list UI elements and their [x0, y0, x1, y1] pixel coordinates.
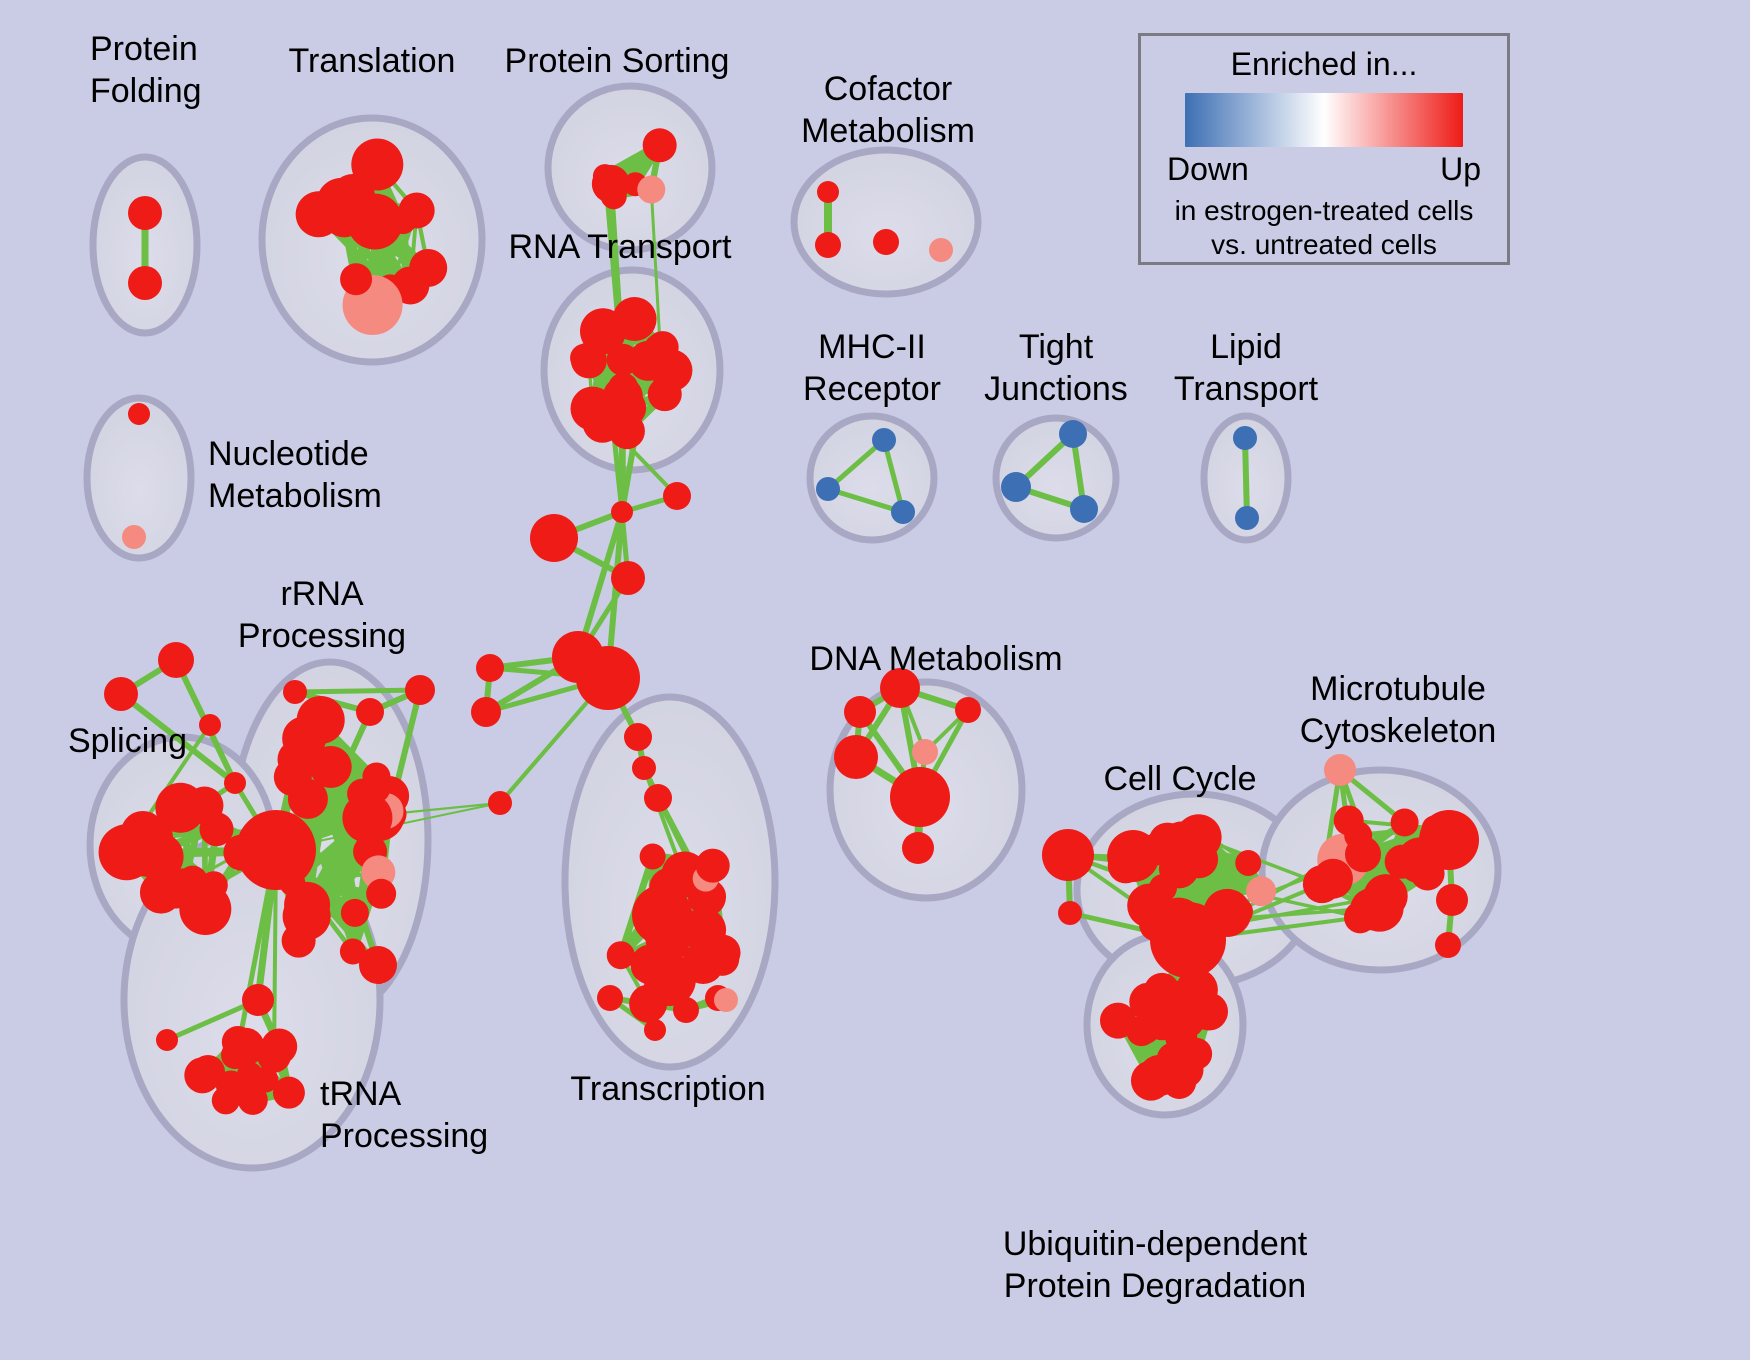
network-node[interactable] [890, 767, 950, 827]
network-node[interactable] [644, 784, 672, 812]
network-node[interactable] [128, 196, 162, 230]
network-node[interactable] [1108, 847, 1144, 883]
network-node[interactable] [488, 791, 512, 815]
cluster-label-transcription: Transcription [570, 1070, 765, 1108]
network-node[interactable] [912, 739, 938, 765]
network-node[interactable] [340, 263, 372, 295]
network-node[interactable] [1129, 983, 1167, 1021]
legend-title: Enriched in... [1163, 46, 1485, 83]
network-node[interactable] [399, 192, 435, 228]
network-node[interactable] [284, 882, 330, 928]
network-node[interactable] [929, 238, 953, 262]
network-node[interactable] [1174, 989, 1208, 1023]
network-edge [1245, 438, 1247, 518]
network-node[interactable] [530, 514, 578, 562]
network-node[interactable] [405, 675, 435, 705]
network-node[interactable] [242, 984, 274, 1016]
network-node[interactable] [1233, 426, 1257, 450]
network-edge [295, 690, 420, 692]
network-node[interactable] [184, 1057, 220, 1093]
network-node[interactable] [663, 482, 691, 510]
network-node[interactable] [104, 677, 138, 711]
legend-panel: Enriched in... Down Up in estrogen-treat… [1138, 33, 1510, 265]
network-node[interactable] [156, 1029, 178, 1051]
legend-up-label: Up [1440, 151, 1481, 188]
cluster-ellipse-cofactor-metab [794, 150, 978, 294]
network-node[interactable] [834, 735, 878, 779]
network-node[interactable] [1140, 1055, 1178, 1093]
network-node[interactable] [873, 229, 899, 255]
network-node[interactable] [366, 879, 396, 909]
network-node[interactable] [224, 772, 246, 794]
network-node[interactable] [1149, 823, 1187, 861]
network-node[interactable] [632, 756, 656, 780]
network-node[interactable] [128, 403, 150, 425]
network-node[interactable] [1058, 901, 1082, 925]
network-node[interactable] [1070, 495, 1098, 523]
network-node[interactable] [624, 723, 652, 751]
figure-canvas: ProteinFoldingTranslationProtein Sorting… [0, 0, 1750, 1360]
network-node[interactable] [342, 793, 392, 843]
cluster-label-translation: Translation [289, 42, 456, 80]
cluster-label-protein-sorting: Protein Sorting [505, 42, 730, 80]
network-node[interactable] [1436, 884, 1468, 916]
network-node[interactable] [122, 525, 146, 549]
network-node[interactable] [323, 195, 365, 237]
network-node[interactable] [872, 428, 896, 452]
network-node[interactable] [632, 885, 692, 945]
cluster-label-rna-transport: RNA Transport [509, 228, 733, 266]
network-node[interactable] [1419, 810, 1479, 870]
network-node[interactable] [356, 698, 384, 726]
network-node[interactable] [955, 697, 981, 723]
legend-gradient-bar [1185, 93, 1463, 147]
network-node[interactable] [1385, 845, 1419, 879]
network-node[interactable] [1391, 808, 1419, 836]
network-node[interactable] [570, 344, 598, 372]
network-node[interactable] [1350, 888, 1392, 930]
network-node[interactable] [351, 139, 403, 191]
network-node[interactable] [582, 403, 622, 443]
network-node[interactable] [362, 775, 390, 803]
network-node[interactable] [844, 696, 876, 728]
network-node[interactable] [316, 717, 340, 741]
network-node[interactable] [576, 646, 640, 710]
network-node[interactable] [1235, 506, 1259, 530]
network-node[interactable] [815, 232, 841, 258]
network-node[interactable] [1001, 472, 1031, 502]
network-node[interactable] [341, 899, 369, 927]
network-node[interactable] [128, 266, 162, 300]
network-node[interactable] [223, 835, 259, 871]
network-node[interactable] [1435, 932, 1461, 958]
legend-down-label: Down [1167, 151, 1249, 188]
legend-subtitle-line2: vs. untreated cells [1163, 228, 1485, 262]
network-node[interactable] [902, 832, 934, 864]
network-node[interactable] [593, 164, 617, 188]
network-node[interactable] [629, 985, 667, 1023]
network-node[interactable] [714, 988, 738, 1012]
network-node[interactable] [643, 128, 677, 162]
network-node[interactable] [630, 945, 670, 985]
network-node[interactable] [283, 680, 307, 704]
network-node[interactable] [644, 1019, 666, 1041]
network-node[interactable] [199, 714, 221, 736]
network-node[interactable] [1042, 829, 1094, 881]
network-node[interactable] [185, 787, 223, 825]
network-node[interactable] [1324, 754, 1356, 786]
network-node[interactable] [637, 176, 665, 204]
cluster-label-dna-metabolism: DNA Metabolism [809, 640, 1062, 678]
network-node[interactable] [673, 997, 699, 1023]
network-node[interactable] [647, 331, 679, 363]
network-node[interactable] [359, 946, 397, 984]
network-node[interactable] [158, 642, 194, 678]
network-node[interactable] [696, 849, 730, 883]
network-node[interactable] [1184, 816, 1212, 844]
network-node[interactable] [640, 843, 666, 869]
network-node[interactable] [471, 697, 501, 727]
network-node[interactable] [613, 297, 657, 341]
network-node[interactable] [817, 181, 839, 203]
network-node[interactable] [816, 477, 840, 501]
network-node[interactable] [1150, 902, 1226, 978]
network-node[interactable] [1344, 821, 1372, 849]
legend-subtitle-line1: in estrogen-treated cells [1163, 194, 1485, 228]
cluster-label-splicing: Splicing [68, 722, 187, 760]
network-node[interactable] [597, 985, 623, 1011]
network-node[interactable] [1246, 876, 1276, 906]
network-node[interactable] [1313, 859, 1353, 899]
network-node[interactable] [136, 833, 184, 881]
network-node[interactable] [273, 1077, 305, 1109]
network-node[interactable] [237, 1062, 263, 1088]
network-node[interactable] [611, 561, 645, 595]
network-node[interactable] [238, 1085, 268, 1115]
network-node[interactable] [1235, 850, 1261, 876]
network-node[interactable] [891, 500, 915, 524]
network-node[interactable] [611, 501, 633, 523]
network-node[interactable] [691, 925, 723, 957]
network-node[interactable] [278, 740, 316, 778]
network-node[interactable] [310, 746, 352, 788]
network-node[interactable] [162, 881, 190, 909]
network-node[interactable] [476, 654, 504, 682]
network-node[interactable] [212, 1086, 240, 1114]
network-node[interactable] [1059, 420, 1087, 448]
cluster-label-cell-cycle: Cell Cycle [1103, 760, 1256, 798]
